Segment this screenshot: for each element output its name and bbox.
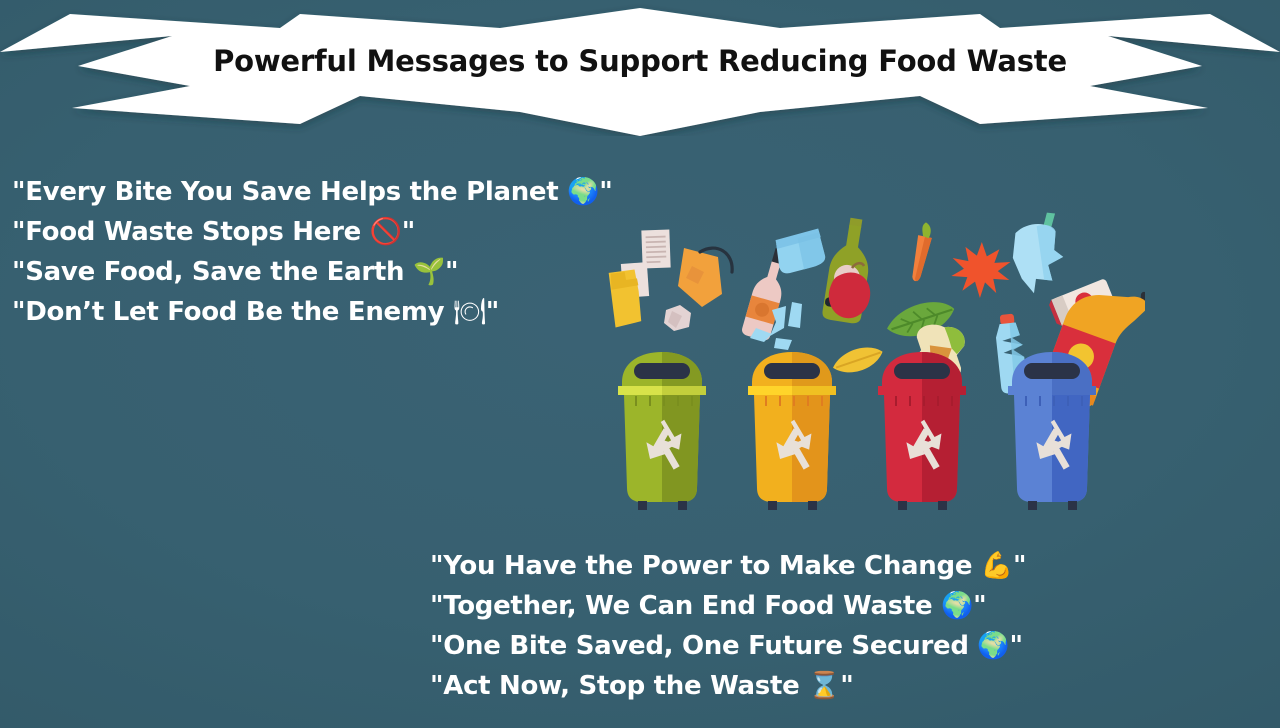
plastic-waste-bin [1008, 352, 1096, 510]
quote-line: "Don’t Let Food Be the Enemy 🍽" [12, 292, 612, 332]
quote-tail: " [1009, 631, 1022, 661]
bin-leg [1068, 501, 1077, 510]
orange-maple-leaf-icon [950, 240, 1012, 300]
bin-leg [808, 501, 817, 510]
bin-lid-slot [764, 363, 820, 379]
paper-waste-bin [618, 352, 706, 510]
quote-tail: " [486, 297, 499, 327]
bin-lid-strip-shade [662, 386, 706, 395]
bin-leg [1028, 501, 1037, 510]
seedling-icon: 🌱 [413, 257, 445, 287]
bin-lid-slot [1024, 363, 1080, 379]
page-title: Powerful Messages to Support Reducing Fo… [0, 44, 1280, 78]
bin-leg [638, 501, 647, 510]
quote-text: "You Have the Power to Make Change [430, 551, 981, 581]
quote-line: "Food Waste Stops Here 🚫" [12, 212, 612, 252]
quote-line: "Save Food, Save the Earth 🌱" [12, 252, 612, 292]
bin-lid-slot [894, 363, 950, 379]
hourglass-done-icon: ⌛ [808, 671, 840, 701]
quote-tail: " [599, 177, 612, 207]
bin-leg [938, 501, 947, 510]
quotes-top-group: "Every Bite You Save Helps the Planet 🌍"… [12, 172, 612, 332]
quote-text: "Don’t Let Food Be the Enemy [12, 297, 453, 327]
quote-tail: " [445, 257, 458, 287]
bin-lid-strip-shade [792, 386, 836, 395]
quote-tail: " [402, 217, 415, 247]
quote-line: "Every Bite You Save Helps the Planet 🌍" [12, 172, 612, 212]
globe-showing-europe-africa-icon: 🌍 [941, 591, 973, 621]
title-banner: Powerful Messages to Support Reducing Fo… [0, 0, 1280, 136]
quote-tail: " [1013, 551, 1026, 581]
bin-lid-strip-shade [1052, 386, 1096, 395]
bin-leg [678, 501, 687, 510]
globe-showing-europe-africa-icon: 🌍 [977, 631, 1009, 661]
prohibited-sign-icon: 🚫 [370, 217, 402, 247]
fork-and-knife-with-plate-icon: 🍽 [453, 297, 486, 327]
quote-text: "Together, We Can End Food Waste [430, 591, 941, 621]
quote-text: "Act Now, Stop the Waste [430, 671, 808, 701]
quote-text: "Every Bite You Save Helps the Planet [12, 177, 567, 207]
quote-line: "You Have the Power to Make Change 💪" [430, 546, 1026, 586]
quote-text: "Save Food, Save the Earth [12, 257, 413, 287]
bin-leg [898, 501, 907, 510]
organic-waste-bin [878, 352, 966, 510]
glass-waste-bin [748, 352, 836, 510]
globe-showing-europe-africa-icon: 🌍 [567, 177, 599, 207]
quote-line: "Act Now, Stop the Waste ⌛" [430, 666, 1026, 706]
quote-line: "Together, We Can End Food Waste 🌍" [430, 586, 1026, 626]
recycling-bins-illustration [600, 210, 1145, 520]
slide-canvas: Powerful Messages to Support Reducing Fo… [0, 0, 1280, 728]
quote-line: "One Bite Saved, One Future Secured 🌍" [430, 626, 1026, 666]
quote-tail: " [840, 671, 853, 701]
quote-tail: " [973, 591, 986, 621]
red-apple-icon [829, 272, 870, 318]
flexed-biceps-icon: 💪 [981, 551, 1013, 581]
bin-lid-strip-shade [922, 386, 966, 395]
quote-text: "Food Waste Stops Here [12, 217, 370, 247]
paper-waste-items [609, 230, 733, 331]
quotes-bottom-group: "You Have the Power to Make Change 💪" "T… [430, 546, 1026, 706]
quote-text: "One Bite Saved, One Future Secured [430, 631, 977, 661]
bin-leg [768, 501, 777, 510]
bin-lid-slot [634, 363, 690, 379]
